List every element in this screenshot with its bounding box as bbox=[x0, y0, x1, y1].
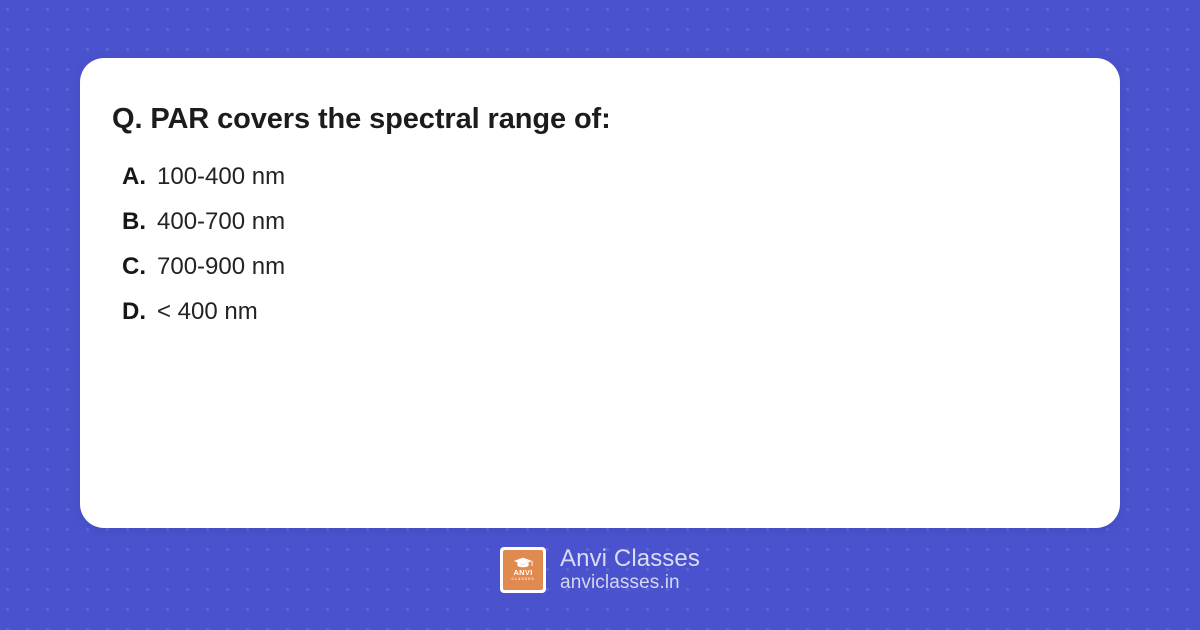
brand-title: Anvi Classes bbox=[560, 546, 700, 571]
option-row-b[interactable]: B. 400-700 nm bbox=[122, 208, 1086, 253]
options-list: A. 100-400 nm B. 400-700 nm C. 700-900 n… bbox=[112, 163, 1086, 343]
brand-logo: ANVI CLASSES bbox=[500, 547, 546, 593]
question-title: Q. PAR covers the spectral range of: bbox=[112, 102, 1086, 137]
footer-branding: ANVI CLASSES Anvi Classes anviclasses.in bbox=[0, 546, 1200, 593]
option-letter-c: C. bbox=[122, 253, 148, 281]
option-row-c[interactable]: C. 700-900 nm bbox=[122, 253, 1086, 298]
option-text-d: < 400 nm bbox=[157, 298, 258, 326]
option-letter-a: A. bbox=[122, 163, 148, 191]
option-text-c: 700-900 nm bbox=[157, 253, 285, 281]
brand-logo-subtitle: CLASSES bbox=[511, 578, 534, 582]
graduation-cap-icon bbox=[513, 557, 533, 568]
brand-logo-name: ANVI bbox=[513, 569, 532, 577]
brand-logo-tile: ANVI CLASSES bbox=[503, 550, 543, 590]
option-text-a: 100-400 nm bbox=[157, 163, 285, 191]
option-letter-b: B. bbox=[122, 208, 148, 236]
option-row-a[interactable]: A. 100-400 nm bbox=[122, 163, 1086, 208]
option-row-d[interactable]: D. < 400 nm bbox=[122, 298, 1086, 343]
brand-url[interactable]: anviclasses.in bbox=[560, 573, 700, 593]
option-text-b: 400-700 nm bbox=[157, 208, 285, 236]
brand-text-block: Anvi Classes anviclasses.in bbox=[560, 546, 700, 593]
option-letter-d: D. bbox=[122, 298, 148, 326]
question-card: Q. PAR covers the spectral range of: A. … bbox=[80, 58, 1120, 528]
